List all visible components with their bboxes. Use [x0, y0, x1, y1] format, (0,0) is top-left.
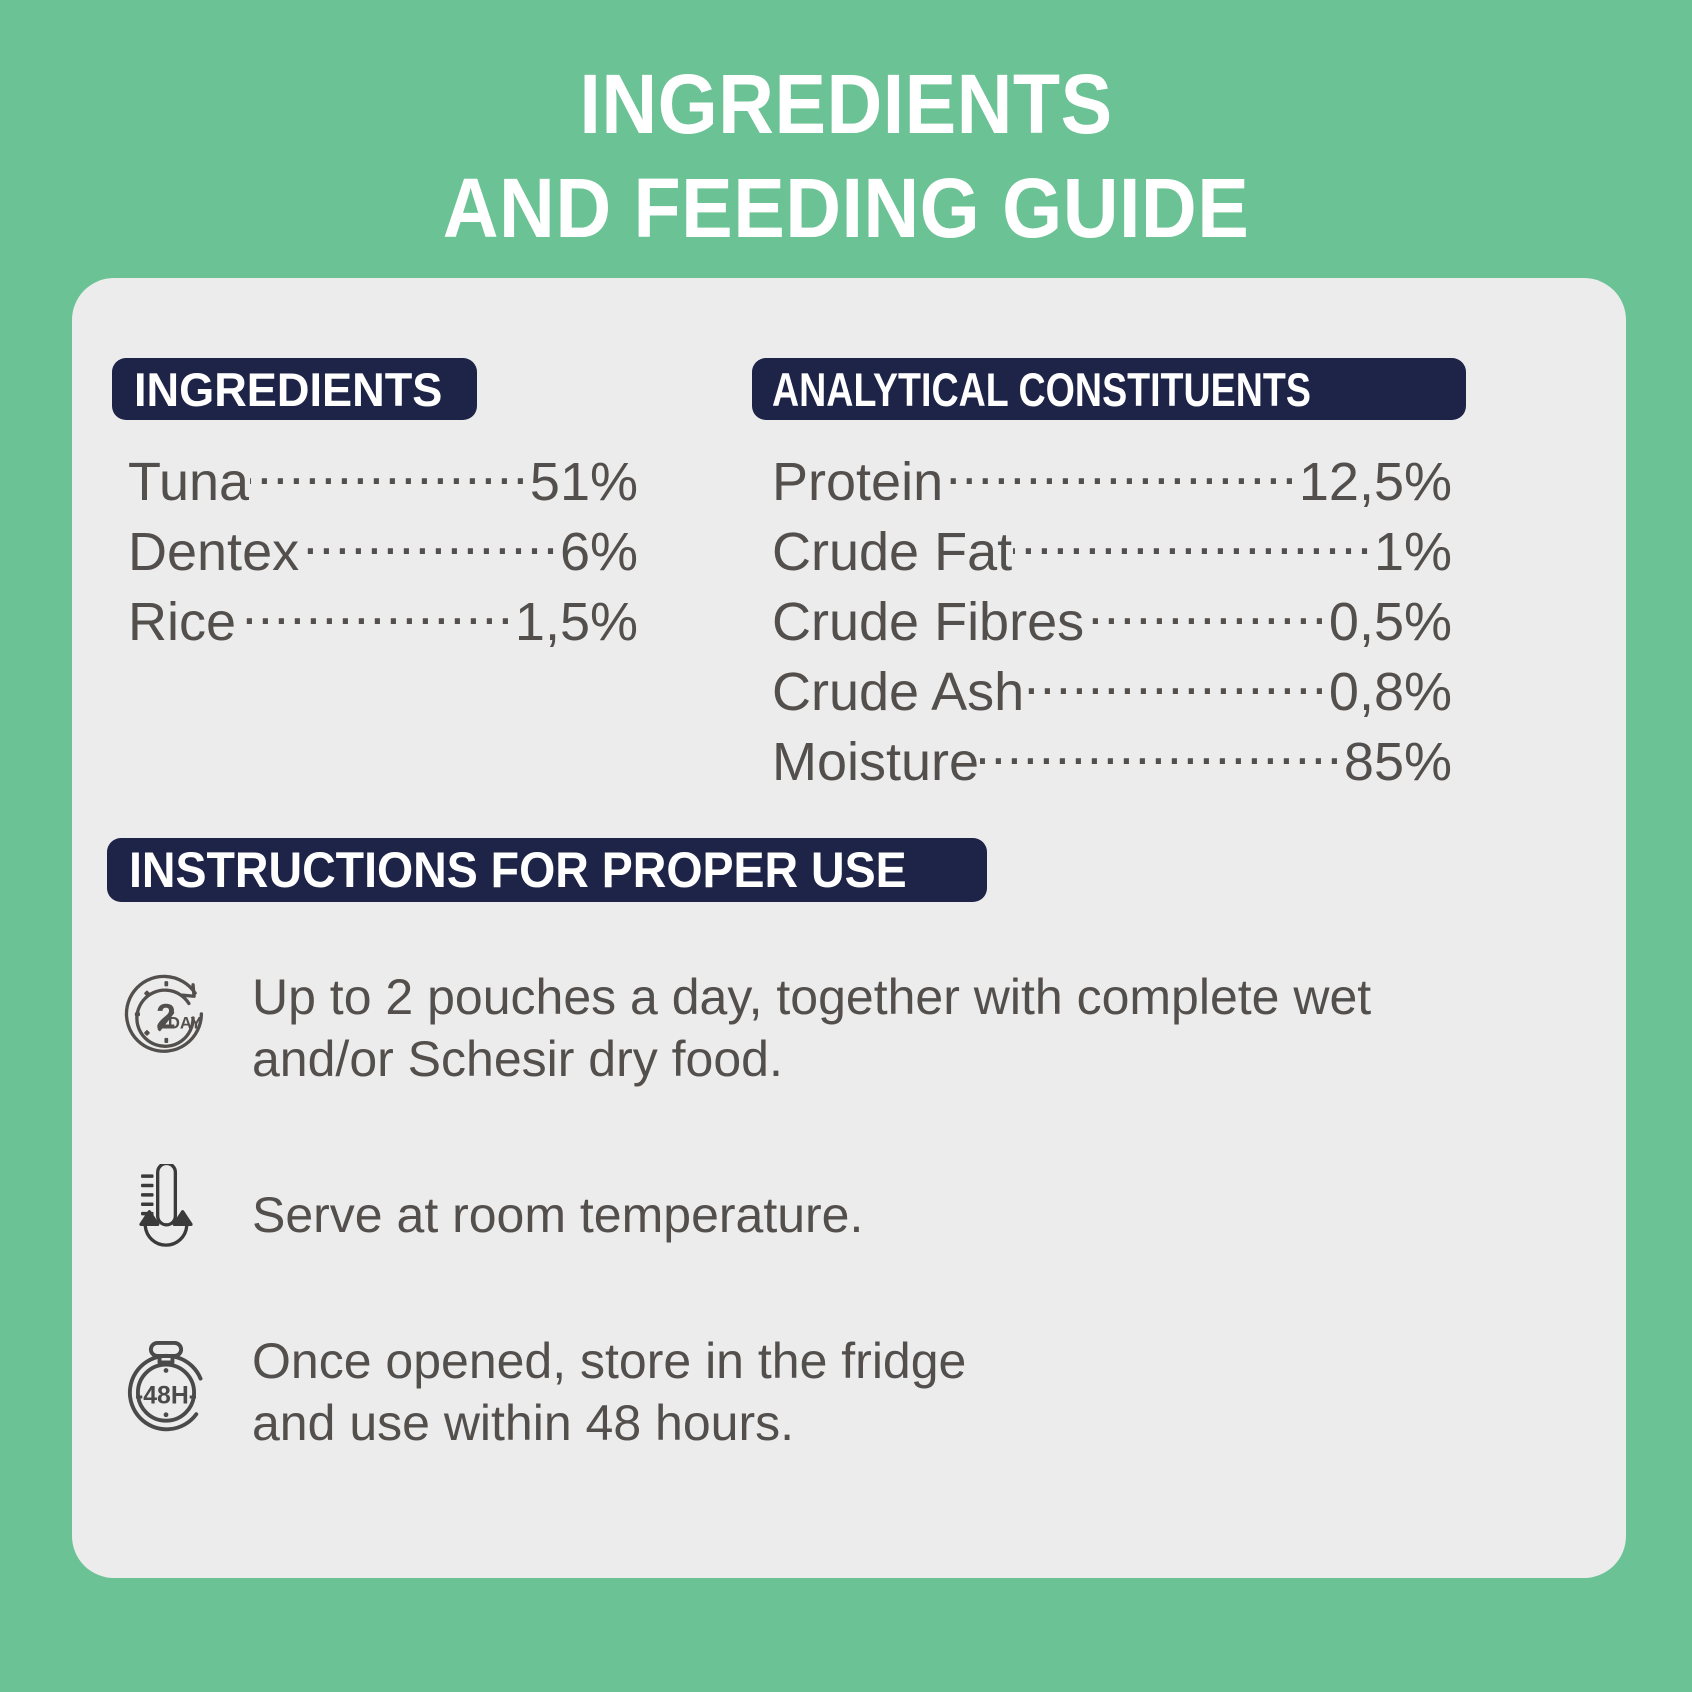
- ingredient-value: 51%: [530, 448, 638, 516]
- content-card: INGREDIENTS ANALYTICAL CONSTITUENTS Tuna…: [72, 278, 1626, 1578]
- ingredient-value: 6%: [560, 518, 638, 586]
- instructions-heading-label: INSTRUCTIONS FOR PROPER USE: [129, 841, 907, 899]
- ingredient-label: Tuna: [128, 448, 249, 516]
- dot-leader: [1025, 656, 1328, 710]
- analytical-label: Crude Fat: [772, 518, 1012, 586]
- ingredients-row: Dentex 6%: [128, 516, 638, 586]
- analytical-value: 1%: [1374, 518, 1452, 586]
- dot-leader: [250, 446, 529, 500]
- dot-leader: [300, 516, 559, 570]
- instruction-item: -48H- Once opened, store in the fridge a…: [110, 1328, 966, 1454]
- svg-text:DAY: DAY: [168, 1013, 202, 1032]
- ingredient-label: Dentex: [128, 518, 299, 586]
- analytical-value: 0,8%: [1329, 658, 1452, 726]
- thermometer-room-temperature-icon: [110, 1160, 222, 1272]
- analytical-label: Moisture: [772, 728, 979, 796]
- dot-leader: [1085, 586, 1328, 640]
- analytical-label: Crude Fibres: [772, 588, 1084, 656]
- ingredient-value: 1,5%: [515, 588, 638, 656]
- analytical-label: Protein: [772, 448, 943, 516]
- instruction-item: 2 DAY Up to 2 pouches a day, together wi…: [110, 960, 1371, 1090]
- dot-leader: [237, 586, 514, 640]
- ingredients-heading-badge: INGREDIENTS: [112, 358, 477, 420]
- instructions-heading-badge: INSTRUCTIONS FOR PROPER USE: [107, 838, 987, 902]
- ingredients-heading-label: INGREDIENTS: [134, 362, 442, 417]
- analytical-row: Crude Fat 1%: [772, 516, 1452, 586]
- analytical-row: Crude Ash 0,8%: [772, 656, 1452, 726]
- analytical-label: Crude Ash: [772, 658, 1024, 726]
- ingredient-label: Rice: [128, 588, 236, 656]
- instruction-item: Serve at room temperature.: [110, 1160, 863, 1272]
- dot-leader: [944, 446, 1298, 500]
- page-title: INGREDIENTS AND FEEDING GUIDE: [68, 52, 1625, 260]
- analytical-value: 12,5%: [1299, 448, 1452, 516]
- instruction-text: Serve at room temperature.: [222, 1160, 863, 1246]
- analytical-heading-label: ANALYTICAL CONSTITUENTS: [772, 362, 1311, 417]
- instruction-text: Once opened, store in the fridge and use…: [222, 1328, 966, 1454]
- analytical-row: Protein 12,5%: [772, 446, 1452, 516]
- analytical-value: 0,5%: [1329, 588, 1452, 656]
- ingredients-row: Tuna 51%: [128, 446, 638, 516]
- stopwatch-48h-icon: -48H-: [110, 1328, 222, 1440]
- ingredients-row: Rice 1,5%: [128, 586, 638, 656]
- dot-leader: [1013, 516, 1373, 570]
- two-per-day-clock-icon: 2 DAY: [110, 960, 222, 1072]
- dot-leader: [980, 726, 1343, 780]
- analytical-value: 85%: [1344, 728, 1452, 796]
- analytical-list: Protein 12,5% Crude Fat 1% Crude Fibres …: [772, 446, 1452, 796]
- label-panel: INGREDIENTS AND FEEDING GUIDE INGREDIENT…: [0, 0, 1692, 1692]
- stopwatch-48h-label: -48H-: [135, 1382, 197, 1409]
- ingredients-list: Tuna 51% Dentex 6% Rice 1,5%: [128, 446, 638, 656]
- instruction-text: Up to 2 pouches a day, together with com…: [222, 960, 1371, 1090]
- analytical-row: Crude Fibres 0,5%: [772, 586, 1452, 656]
- analytical-heading-badge: ANALYTICAL CONSTITUENTS: [752, 358, 1466, 420]
- analytical-row: Moisture 85%: [772, 726, 1452, 796]
